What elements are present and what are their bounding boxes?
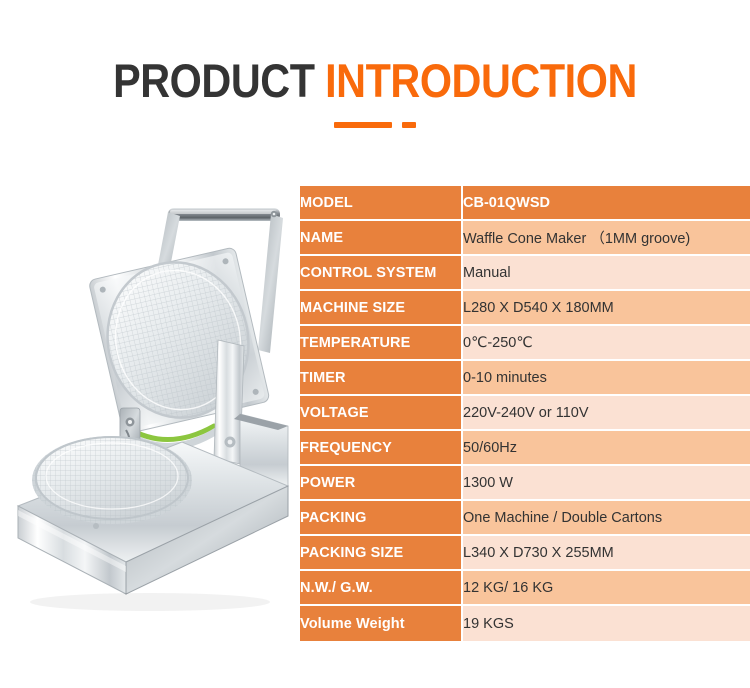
divider-dash-long <box>334 122 392 128</box>
spec-table-body: MODELCB-01QWSDNAMEWaffle Cone Maker （1MM… <box>300 186 750 641</box>
spec-row: POWER1300 W <box>300 466 750 501</box>
spec-label-model: MODEL <box>300 186 463 221</box>
spec-label-packing-size: PACKING SIZE <box>300 536 463 571</box>
spec-row: PACKING SIZEL340 X D730 X 255MM <box>300 536 750 571</box>
spec-label-packing: PACKING <box>300 501 463 536</box>
spec-label-machine-size: MACHINE SIZE <box>300 291 463 326</box>
page-title-accent: INTRODUCTION <box>325 54 637 107</box>
spec-row: MACHINE SIZEL280 X D540 X 180MM <box>300 291 750 326</box>
divider-dash-short <box>402 122 416 128</box>
spec-row: CONTROL SYSTEMManual <box>300 256 750 291</box>
product-image <box>0 190 295 620</box>
spec-value-packing-size: L340 X D730 X 255MM <box>463 536 750 571</box>
spec-row: FREQUENCY50/60Hz <box>300 431 750 466</box>
spec-label-control-system: CONTROL SYSTEM <box>300 256 463 291</box>
spec-value-frequency: 50/60Hz <box>463 431 750 466</box>
spec-row: PACKINGOne Machine / Double Cartons <box>300 501 750 536</box>
spec-label-name: NAME <box>300 221 463 256</box>
spec-row: TEMPERATURE0℃-250℃ <box>300 326 750 361</box>
spec-value-n-w-g-w: 12 KG/ 16 KG <box>463 571 750 606</box>
spec-value-name: Waffle Cone Maker （1MM groove) <box>463 221 750 256</box>
spec-value-machine-size: L280 X D540 X 180MM <box>463 291 750 326</box>
spec-label-voltage: VOLTAGE <box>300 396 463 431</box>
right-column <box>214 340 244 464</box>
spec-label-power: POWER <box>300 466 463 501</box>
spec-label-n-w-g-w: N.W./ G.W. <box>300 571 463 606</box>
page-title-primary: PRODUCT <box>113 54 314 107</box>
spec-value-voltage: 220V-240V or 110V <box>463 396 750 431</box>
spec-value-timer: 0-10 minutes <box>463 361 750 396</box>
spec-value-packing: One Machine / Double Cartons <box>463 501 750 536</box>
spec-label-volume-weight: Volume Weight <box>300 606 463 641</box>
waffle-cone-maker-illustration <box>0 190 295 620</box>
spec-value-power: 1300 W <box>463 466 750 501</box>
spec-label-timer: TIMER <box>300 361 463 396</box>
spec-value-volume-weight: 19 KGS <box>463 606 750 641</box>
spec-row: N.W./ G.W.12 KG/ 16 KG <box>300 571 750 606</box>
spec-value-temperature: 0℃-250℃ <box>463 326 750 361</box>
spec-value-model: CB-01QWSD <box>463 186 750 221</box>
page-title: PRODUCTINTRODUCTION <box>45 54 705 108</box>
page-header: PRODUCTINTRODUCTION <box>0 0 750 170</box>
spec-value-control-system: Manual <box>463 256 750 291</box>
spec-label-frequency: FREQUENCY <box>300 431 463 466</box>
title-divider <box>0 122 750 128</box>
spec-row: VOLTAGE220V-240V or 110V <box>300 396 750 431</box>
spec-row: TIMER0-10 minutes <box>300 361 750 396</box>
spec-row: Volume Weight19 KGS <box>300 606 750 641</box>
spec-label-temperature: TEMPERATURE <box>300 326 463 361</box>
spec-row: NAMEWaffle Cone Maker （1MM groove) <box>300 221 750 256</box>
spec-row: MODELCB-01QWSD <box>300 186 750 221</box>
specification-table: MODELCB-01QWSDNAMEWaffle Cone Maker （1MM… <box>300 186 750 641</box>
